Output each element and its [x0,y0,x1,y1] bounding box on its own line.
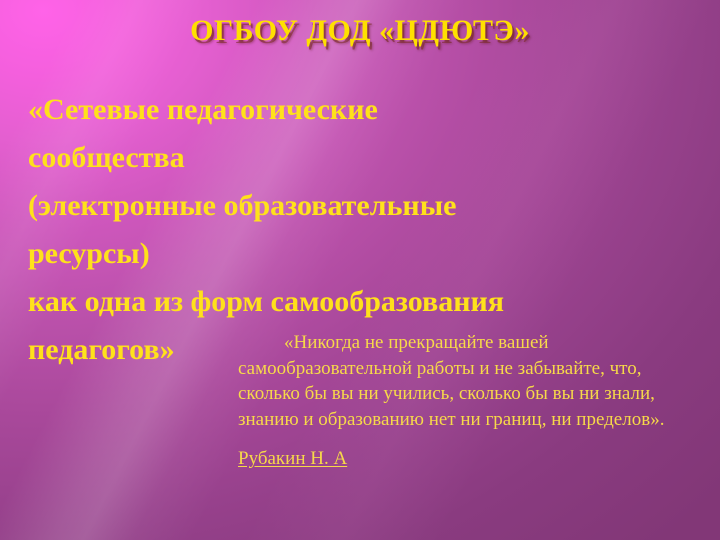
heading-line-4: ресурсы) [28,230,700,278]
quotation-author: Рубакин Н. А [238,446,347,472]
heading-line-5: как одна из форм самообразования [28,278,700,326]
quotation-text: «Никогда не прекращайте вашей самообразо… [238,330,686,432]
heading-line-2: сообщества [28,134,700,182]
presentation-slide: ОГБОУ ДОД «ЦДЮТЭ» «Сетевые педагогически… [0,0,720,540]
heading-line-3: (электронные образовательные [28,182,700,230]
slide-organization-title: ОГБОУ ДОД «ЦДЮТЭ» [0,14,720,48]
quotation-block: «Никогда не прекращайте вашей самообразо… [238,330,686,472]
heading-line-1: «Сетевые педагогические [28,86,700,134]
